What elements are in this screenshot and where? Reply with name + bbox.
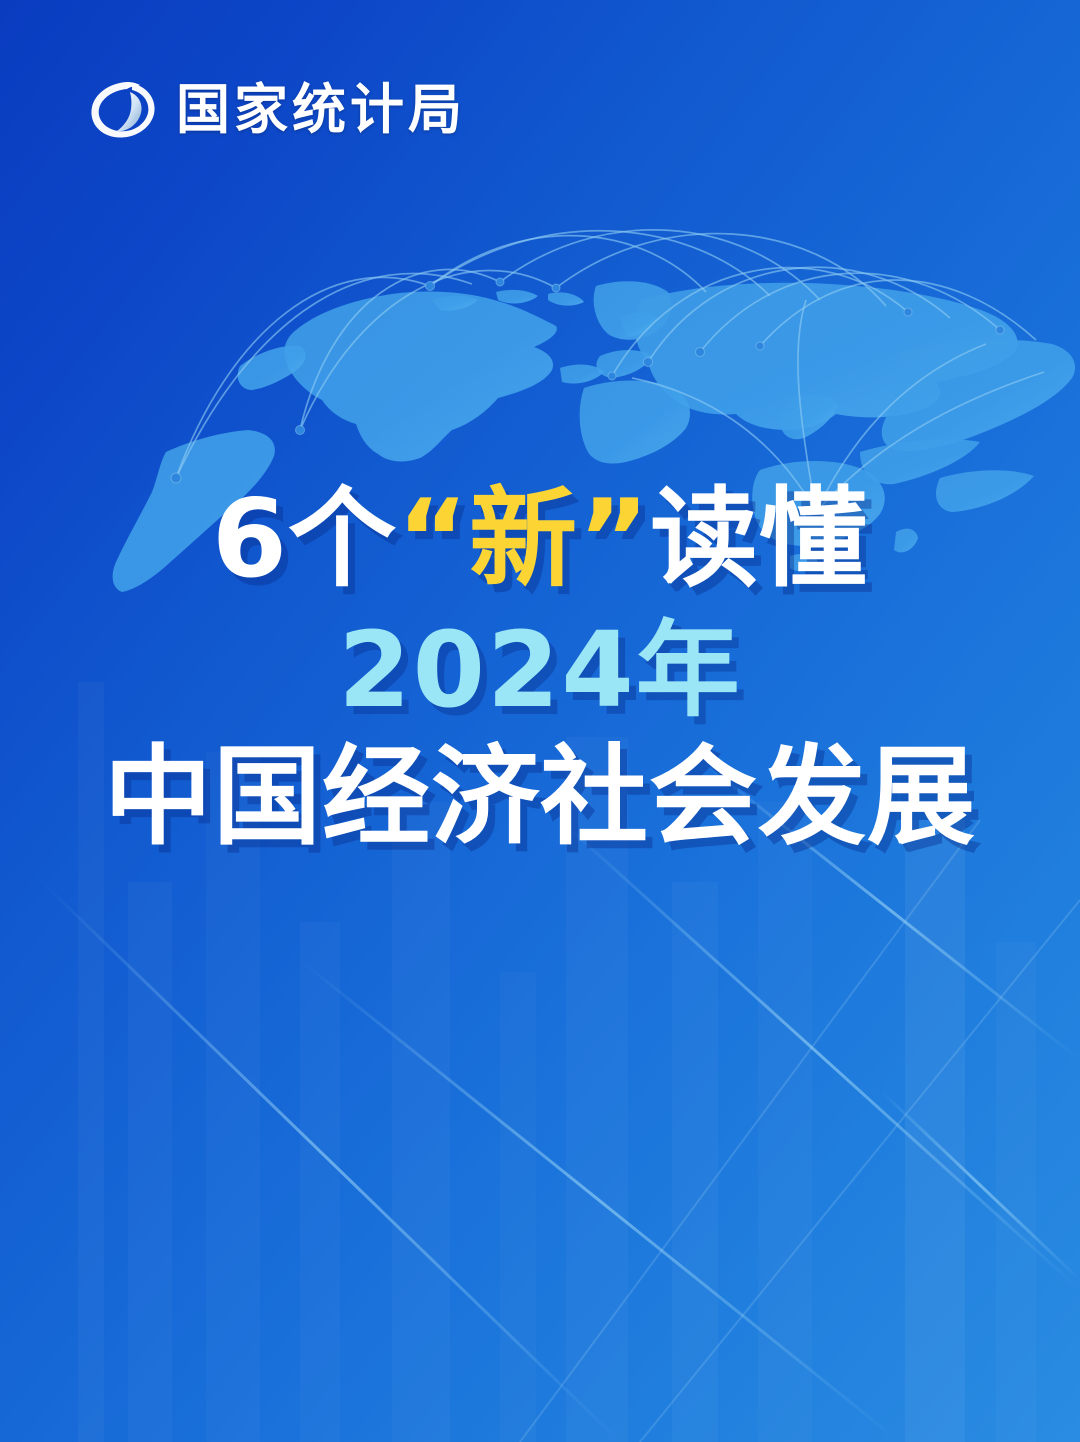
title-line-2: 2024年 [0, 618, 1080, 722]
nbs-wordmark: 国家统计局 [176, 83, 466, 137]
bg-column [905, 820, 965, 1442]
bg-column [672, 882, 718, 1442]
title-line1-quote-close: ” [578, 477, 650, 602]
bg-column [758, 802, 812, 1442]
nbs-logo: 国家统计局 [86, 74, 466, 146]
title-line1-quote-open: “ [397, 477, 469, 602]
poster-title-block: 6个“新”读懂 2024年 中国经济社会发展 [0, 486, 1080, 852]
poster-canvas: 国家统计局 6个“新”读懂 2024年 中国经济社会发展 [0, 0, 1080, 1442]
bg-column [128, 882, 172, 1442]
light-streaks [40, 760, 1080, 1442]
light-streaks-soft [520, 820, 1080, 1442]
bg-column [392, 802, 450, 1442]
network-arcs [176, 230, 1044, 512]
bg-column [996, 942, 1036, 1442]
title-line-1: 6个“新”读懂 [0, 486, 1080, 594]
bg-column [500, 972, 536, 1442]
title-line1-suffix: 读懂 [650, 477, 868, 602]
bg-column [300, 922, 340, 1442]
title-line1-highlight: 新 [469, 477, 578, 602]
nbs-swoosh-logo-icon [86, 74, 160, 146]
title-line-3: 中国经济社会发展 [0, 744, 1080, 852]
title-line1-prefix: 6个 [212, 477, 397, 602]
